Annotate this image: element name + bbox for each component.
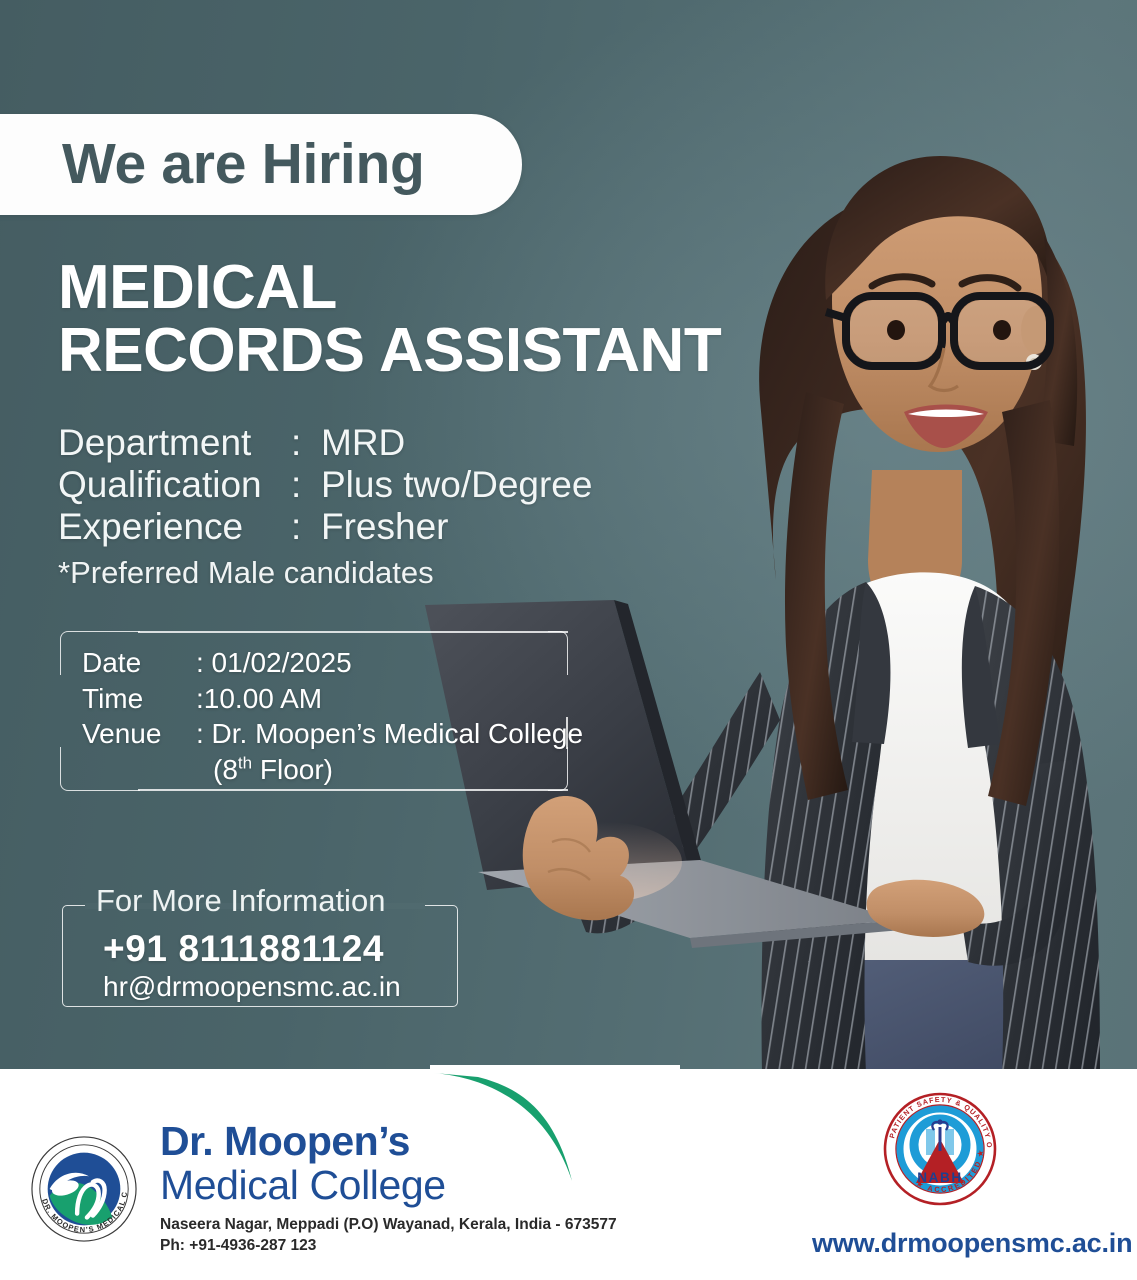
we-are-hiring-banner: We are Hiring [0,114,522,215]
college-name-line2: Medical College [160,1163,617,1207]
spec-label-experience: Experience [58,506,291,548]
college-seal-icon: DR. MOOPEN’S MEDICAL COLLEGE [30,1135,138,1243]
event-row-venue: Venue : Dr. Moopen’s Medical College [82,716,583,752]
spec-row-qualification: Qualification : Plus two/Degree [58,464,592,506]
spec-colon-experience: : [291,506,321,548]
college-address: Naseera Nagar, Meppadi (P.O) Wayanad, Ke… [160,1215,617,1236]
website-url[interactable]: www.drmoopensmc.ac.in [812,1228,1132,1259]
college-logo-block: DR. MOOPEN’S MEDICAL COLLEGE Dr. Moopen’… [30,1121,617,1256]
spec-colon-department: : [291,422,321,464]
college-address-block: Naseera Nagar, Meppadi (P.O) Wayanad, Ke… [160,1215,617,1256]
spec-row-department: Department : MRD [58,422,592,464]
spec-value-qualification: Plus two/Degree [321,464,592,506]
contact-email[interactable]: hr@drmoopensmc.ac.in [103,971,401,1003]
job-specs: Department : MRD Qualification : Plus tw… [58,422,592,590]
hiring-poster: We are Hiring MEDICAL RECORDS ASSISTANT … [0,0,1137,1280]
event-label-time: Time [82,681,196,717]
we-are-hiring-label: We are Hiring [62,136,424,193]
contact-phone[interactable]: +91 8111881124 [103,928,384,970]
spec-label-department: Department [58,422,291,464]
spec-colon-qualification: : [291,464,321,506]
college-phone: Ph: +91-4936-287 123 [160,1236,617,1257]
contact-info-box: For More Information +91 8111881124 hr@d… [62,905,458,1007]
nabh-accreditation-seal-icon: NABH PATIENT SAFETY & QUALITY OF CARE ★ … [880,1089,1000,1209]
contact-legend-label: For More Information [85,885,396,916]
event-value-venue: : Dr. Moopen’s Medical College [196,716,583,752]
event-row-date: Date : 01/02/2025 [82,645,583,681]
spec-row-experience: Experience : Fresher [58,506,592,548]
event-box-edge-top [138,631,568,633]
event-details-box: Date : 01/02/2025 Time :10.00 AM Venue :… [60,631,568,791]
job-title-line1: MEDICAL [58,253,337,322]
event-value-venue-floor: (8th Floor) [82,752,583,788]
event-details-content: Date : 01/02/2025 Time :10.00 AM Venue :… [82,645,583,787]
college-name-block: Dr. Moopen’s Medical College Naseera Nag… [160,1121,617,1256]
job-title-line2: RECORDS ASSISTANT [58,319,721,382]
event-box-edge-bottom [138,789,568,791]
event-value-date: : 01/02/2025 [196,645,352,681]
event-row-time: Time :10.00 AM [82,681,583,717]
spec-value-department: MRD [321,422,405,464]
spec-note: *Preferred Male candidates [58,555,592,590]
spec-label-qualification: Qualification [58,464,291,506]
venue-floor-prefix: (8 [213,754,238,785]
event-label-date: Date [82,645,196,681]
spec-value-experience: Fresher [321,506,448,548]
venue-floor-ordinal: th [238,753,252,772]
venue-floor-suffix: Floor) [252,754,333,785]
poster-footer: DR. MOOPEN’S MEDICAL COLLEGE Dr. Moopen’… [0,1069,1137,1280]
college-name-line1: Dr. Moopen’s [160,1121,617,1163]
job-title: MEDICAL RECORDS ASSISTANT [58,256,721,382]
event-value-time: :10.00 AM [196,681,322,717]
event-label-venue: Venue [82,716,196,752]
